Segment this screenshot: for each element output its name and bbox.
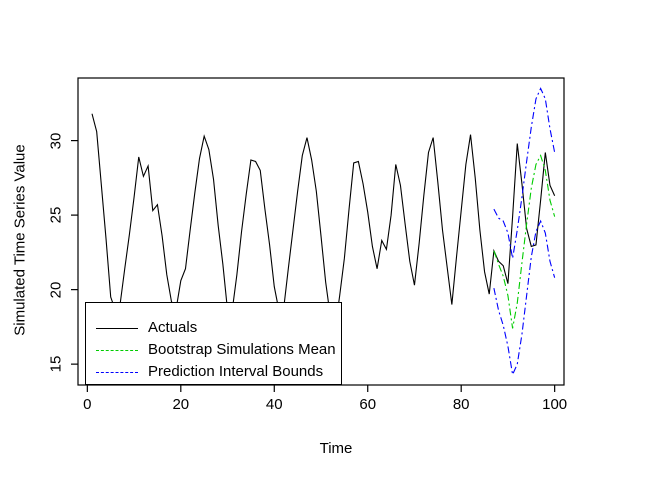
legend-item: Actuals [86,317,341,339]
y-tick-label: 30 [48,132,65,149]
x-axis-title: Time [0,440,672,457]
y-tick-label: 20 [48,281,65,298]
legend-item: Bootstrap Simulations Mean [86,339,341,361]
y-tick-label: 25 [48,207,65,224]
legend-key-line [96,328,138,329]
chart-legend: ActualsBootstrap Simulations MeanPredict… [85,302,342,385]
legend-label: Actuals [148,317,197,339]
y-axis-title: Simulated Time Series Value [0,0,40,480]
chart-canvas: Simulated Time Series Value Time 0204060… [0,0,672,480]
legend-item: Prediction Interval Bounds [86,361,341,383]
legend-label: Prediction Interval Bounds [148,361,323,383]
x-tick-label: 20 [172,396,189,413]
series-line [92,114,555,330]
legend-label: Bootstrap Simulations Mean [148,339,336,361]
y-tick-label: 15 [48,356,65,373]
x-tick-label: 0 [83,396,91,413]
x-tick-label: 40 [266,396,283,413]
x-tick-label: 80 [453,396,470,413]
x-tick-label: 100 [542,396,567,413]
legend-key-line [96,350,138,351]
y-axis-title-text: Simulated Time Series Value [12,144,29,335]
x-tick-label: 60 [359,396,376,413]
plot-area [0,0,672,480]
legend-key-line [96,372,138,373]
